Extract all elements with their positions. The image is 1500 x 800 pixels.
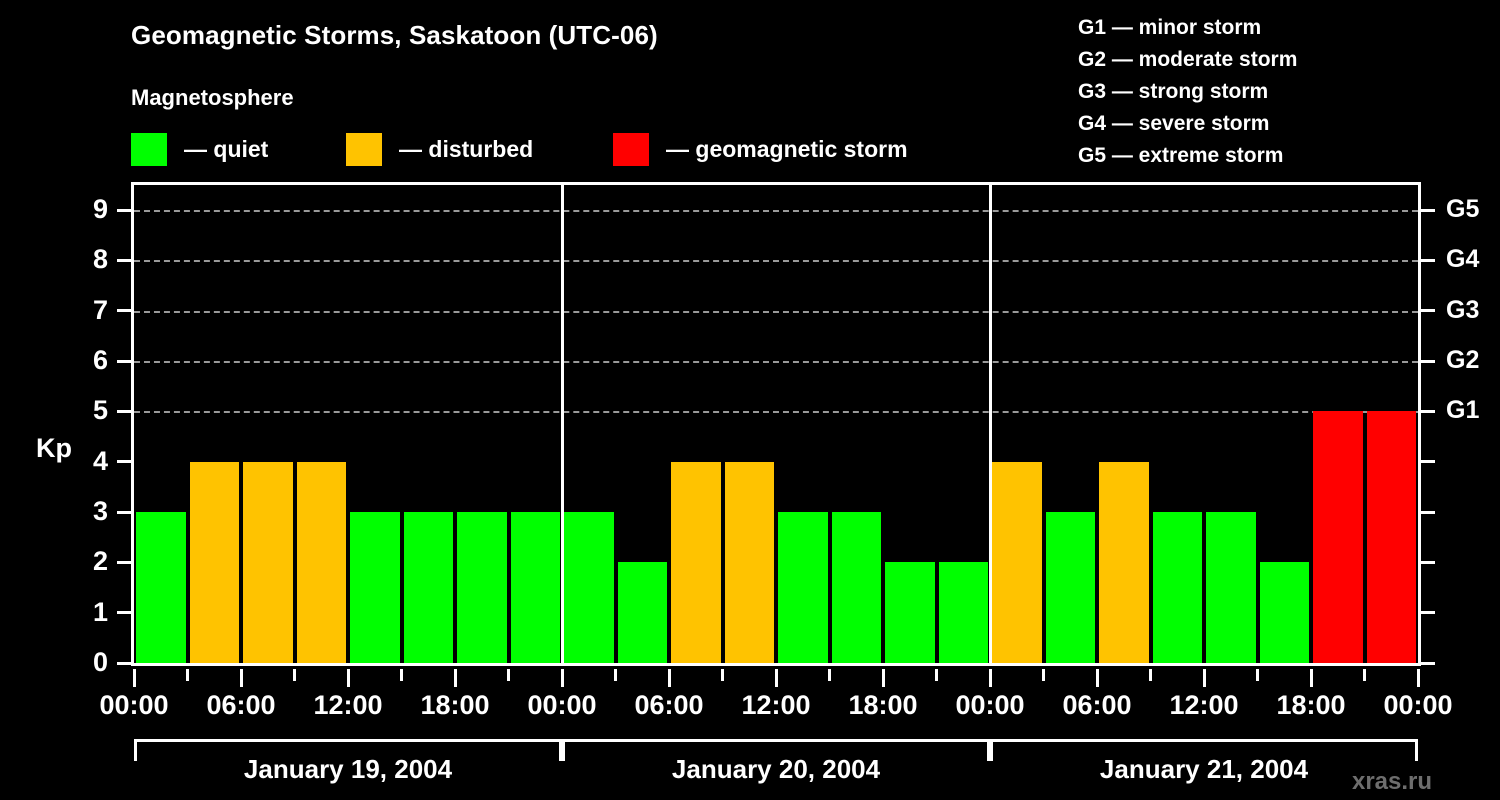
- bar: [1153, 512, 1203, 663]
- g-tick-G3: [1421, 309, 1435, 312]
- g-tick-label-G2: G2: [1446, 348, 1479, 373]
- g-axis-minor-tick: [1421, 561, 1435, 564]
- y-tick-2: [117, 561, 131, 564]
- bracket-cap-r: [1415, 739, 1418, 761]
- y-tick-label-9: 9: [68, 196, 108, 223]
- y-tick-7: [117, 309, 131, 312]
- bar: [1099, 462, 1149, 663]
- x-minor-tick: [828, 669, 831, 681]
- x-major-tick: [775, 669, 778, 687]
- x-major-tick: [1096, 669, 1099, 687]
- bar: [939, 562, 989, 663]
- bracket-bar-h: [562, 739, 990, 742]
- bar: [1260, 562, 1310, 663]
- bar: [297, 462, 347, 663]
- legend-label-storm: — geomagnetic storm: [666, 136, 908, 163]
- g-scale-row-5: G5 — extreme storm: [1078, 140, 1297, 172]
- bar: [778, 512, 828, 663]
- x-tick-label: 00:00: [527, 690, 596, 721]
- x-minor-tick: [293, 669, 296, 681]
- x-major-tick: [1417, 669, 1420, 687]
- x-tick-label: 18:00: [420, 690, 489, 721]
- x-minor-tick: [186, 669, 189, 681]
- y-tick-label-3: 3: [68, 498, 108, 525]
- bar: [511, 512, 561, 663]
- g-tick-G2: [1421, 360, 1435, 363]
- bar: [457, 512, 507, 663]
- x-major-tick: [989, 669, 992, 687]
- x-major-tick: [882, 669, 885, 687]
- g-axis-minor-tick: [1421, 662, 1435, 665]
- date-label: January 19, 2004: [244, 754, 452, 785]
- y-tick-label-7: 7: [68, 297, 108, 324]
- g-tick-label-G4: G4: [1446, 247, 1479, 272]
- g-scale-legend: G1 — minor stormG2 — moderate stormG3 — …: [1078, 12, 1297, 172]
- bar: [1367, 411, 1417, 663]
- y-tick-3: [117, 511, 131, 514]
- x-major-tick: [454, 669, 457, 687]
- x-tick-label: 06:00: [206, 690, 275, 721]
- x-tick-label: 00:00: [99, 690, 168, 721]
- legend-swatch-quiet: [131, 133, 167, 166]
- bar: [832, 512, 882, 663]
- x-major-tick: [240, 669, 243, 687]
- y-tick-label-2: 2: [68, 548, 108, 575]
- x-major-tick: [561, 669, 564, 687]
- bar: [885, 562, 935, 663]
- bar: [243, 462, 293, 663]
- x-tick-label: 18:00: [1276, 690, 1345, 721]
- x-minor-tick: [614, 669, 617, 681]
- date-label: January 20, 2004: [672, 754, 880, 785]
- bar: [190, 462, 240, 663]
- bar: [1206, 512, 1256, 663]
- y-tick-0: [117, 662, 131, 665]
- x-tick-label: 06:00: [634, 690, 703, 721]
- page-title: Geomagnetic Storms, Saskatoon (UTC-06): [131, 20, 658, 51]
- y-tick-6: [117, 360, 131, 363]
- g-tick-G4: [1421, 259, 1435, 262]
- bar: [350, 512, 400, 663]
- gridline-kp-7: [134, 311, 1418, 313]
- x-tick-label: 12:00: [741, 690, 810, 721]
- x-minor-tick: [1256, 669, 1259, 681]
- g-tick-label-G1: G1: [1446, 398, 1479, 423]
- g-scale-row-3: G3 — strong storm: [1078, 76, 1297, 108]
- bar: [1046, 512, 1096, 663]
- legend-label-disturbed: — disturbed: [399, 136, 533, 163]
- g-tick-label-G3: G3: [1446, 298, 1479, 323]
- bar: [725, 462, 775, 663]
- y-tick-label-1: 1: [68, 599, 108, 626]
- bracket-cap-l: [990, 739, 993, 761]
- g-scale-row-4: G4 — severe storm: [1078, 108, 1297, 140]
- g-tick-G1: [1421, 410, 1435, 413]
- x-major-tick: [347, 669, 350, 687]
- x-major-tick: [1310, 669, 1313, 687]
- plot-area: [131, 182, 1421, 666]
- x-tick-label: 00:00: [1383, 690, 1452, 721]
- chart-root: Geomagnetic Storms, Saskatoon (UTC-06) M…: [0, 0, 1500, 800]
- x-major-tick: [1203, 669, 1206, 687]
- gridline-kp-9: [134, 210, 1418, 212]
- bar: [136, 512, 186, 663]
- x-tick-label: 06:00: [1062, 690, 1131, 721]
- chart-subtitle: Magnetosphere: [131, 85, 294, 111]
- y-tick-9: [117, 209, 131, 212]
- x-tick-label: 00:00: [955, 690, 1024, 721]
- bar: [564, 512, 614, 663]
- g-scale-row-1: G1 — minor storm: [1078, 12, 1297, 44]
- watermark: xras.ru: [1352, 768, 1432, 796]
- legend-item-storm: — geomagnetic storm: [613, 132, 908, 166]
- g-axis-minor-tick: [1421, 511, 1435, 514]
- x-minor-tick: [507, 669, 510, 681]
- g-scale-row-2: G2 — moderate storm: [1078, 44, 1297, 76]
- gridline-kp-6: [134, 361, 1418, 363]
- g-axis-minor-tick: [1421, 611, 1435, 614]
- date-label: January 21, 2004: [1100, 754, 1308, 785]
- gridline-kp-8: [134, 260, 1418, 262]
- y-tick-1: [117, 611, 131, 614]
- x-tick-label: 12:00: [313, 690, 382, 721]
- bar: [671, 462, 721, 663]
- bar: [618, 562, 668, 663]
- bracket-bar-h: [134, 739, 562, 742]
- bracket-cap-l: [134, 739, 137, 761]
- bar: [992, 462, 1042, 663]
- y-tick-label-5: 5: [68, 397, 108, 424]
- legend-swatch-disturbed: [346, 133, 382, 166]
- bar: [1313, 411, 1363, 663]
- y-tick-5: [117, 410, 131, 413]
- y-tick-8: [117, 259, 131, 262]
- x-minor-tick: [935, 669, 938, 681]
- x-minor-tick: [1042, 669, 1045, 681]
- x-tick-label: 18:00: [848, 690, 917, 721]
- x-tick-label: 12:00: [1169, 690, 1238, 721]
- y-tick-label-4: 4: [68, 448, 108, 475]
- g-axis-minor-tick: [1421, 460, 1435, 463]
- x-minor-tick: [400, 669, 403, 681]
- x-major-tick: [668, 669, 671, 687]
- legend-item-quiet: — quiet: [131, 132, 268, 166]
- x-minor-tick: [1149, 669, 1152, 681]
- y-tick-4: [117, 460, 131, 463]
- g-tick-label-G5: G5: [1446, 197, 1479, 222]
- bracket-bar-h: [990, 739, 1418, 742]
- bracket-cap-l: [562, 739, 565, 761]
- y-tick-label-6: 6: [68, 347, 108, 374]
- y-axis-label: Kp: [36, 433, 72, 464]
- legend-swatch-storm: [613, 133, 649, 166]
- legend-item-disturbed: — disturbed: [346, 132, 533, 166]
- x-major-tick: [133, 669, 136, 687]
- gridline-kp-5: [134, 411, 1418, 413]
- legend-label-quiet: — quiet: [184, 136, 268, 163]
- x-minor-tick: [721, 669, 724, 681]
- y-tick-label-8: 8: [68, 246, 108, 273]
- bar: [404, 512, 454, 663]
- x-minor-tick: [1363, 669, 1366, 681]
- y-tick-label-0: 0: [68, 649, 108, 676]
- g-tick-G5: [1421, 209, 1435, 212]
